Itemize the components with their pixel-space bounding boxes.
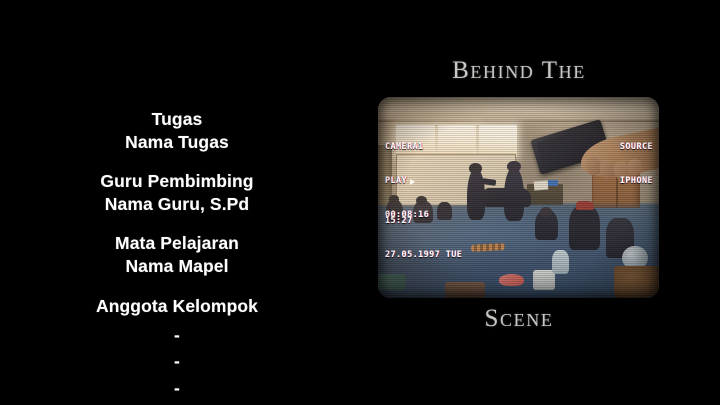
- credit-heading: Anggota Kelompok: [36, 295, 318, 318]
- list-item: -: [36, 375, 318, 402]
- credit-group-anggota: Anggota Kelompok - - - -: [36, 295, 318, 405]
- teal-object: [378, 274, 406, 290]
- person-head: [507, 161, 520, 172]
- items-on-floor: [483, 188, 531, 206]
- credits-block: Tugas Nama Tugas Guru Pembimbing Nama Gu…: [36, 108, 318, 405]
- video-frame: CAMERA1 PLAY 00:08:16 SOURCE IPHONE 15:2…: [378, 97, 659, 298]
- bottle: [552, 250, 569, 274]
- presentation-slide: Tugas Nama Tugas Guru Pembimbing Nama Gu…: [0, 0, 720, 405]
- brown-object: [614, 266, 659, 298]
- person-head: [416, 196, 427, 204]
- window-pane: [438, 125, 476, 157]
- white-box: [533, 270, 555, 290]
- credit-value: Nama Tugas: [36, 131, 318, 154]
- list-item: -: [36, 322, 318, 349]
- blue-item-on-desk: [548, 180, 558, 186]
- red-clothing: [576, 201, 594, 210]
- credit-heading: Mata Pelajaran: [36, 232, 318, 255]
- person-head: [469, 163, 482, 173]
- credit-heading: Tugas: [36, 108, 318, 131]
- standing-person: [467, 169, 485, 219]
- window-pane: [479, 125, 517, 157]
- credit-heading: Guru Pembimbing: [36, 170, 318, 193]
- page-title-bottom: Scene: [378, 305, 660, 333]
- ceiling-edge: [378, 120, 659, 122]
- list-item: -: [36, 401, 318, 405]
- pink-object: [499, 274, 524, 286]
- seated-person: [437, 202, 452, 220]
- bag: [445, 282, 484, 298]
- credit-group-tugas: Tugas Nama Tugas: [36, 108, 318, 154]
- credit-value: Nama Mapel: [36, 255, 318, 278]
- person-head: [540, 207, 553, 217]
- window-pane: [396, 125, 434, 157]
- credit-group-mapel: Mata Pelajaran Nama Mapel: [36, 232, 318, 278]
- list-item: -: [36, 348, 318, 375]
- member-list: - - - -: [36, 322, 318, 405]
- striped-object: [471, 243, 505, 252]
- seated-person: [569, 206, 600, 250]
- credit-group-guru: Guru Pembimbing Nama Guru, S.Pd: [36, 170, 318, 216]
- paper-on-desk: [534, 181, 549, 191]
- person-head: [389, 195, 399, 203]
- page-title-top: Behind The: [378, 57, 660, 85]
- credit-value: Nama Guru, S.Pd: [36, 193, 318, 216]
- window-row: [396, 125, 517, 157]
